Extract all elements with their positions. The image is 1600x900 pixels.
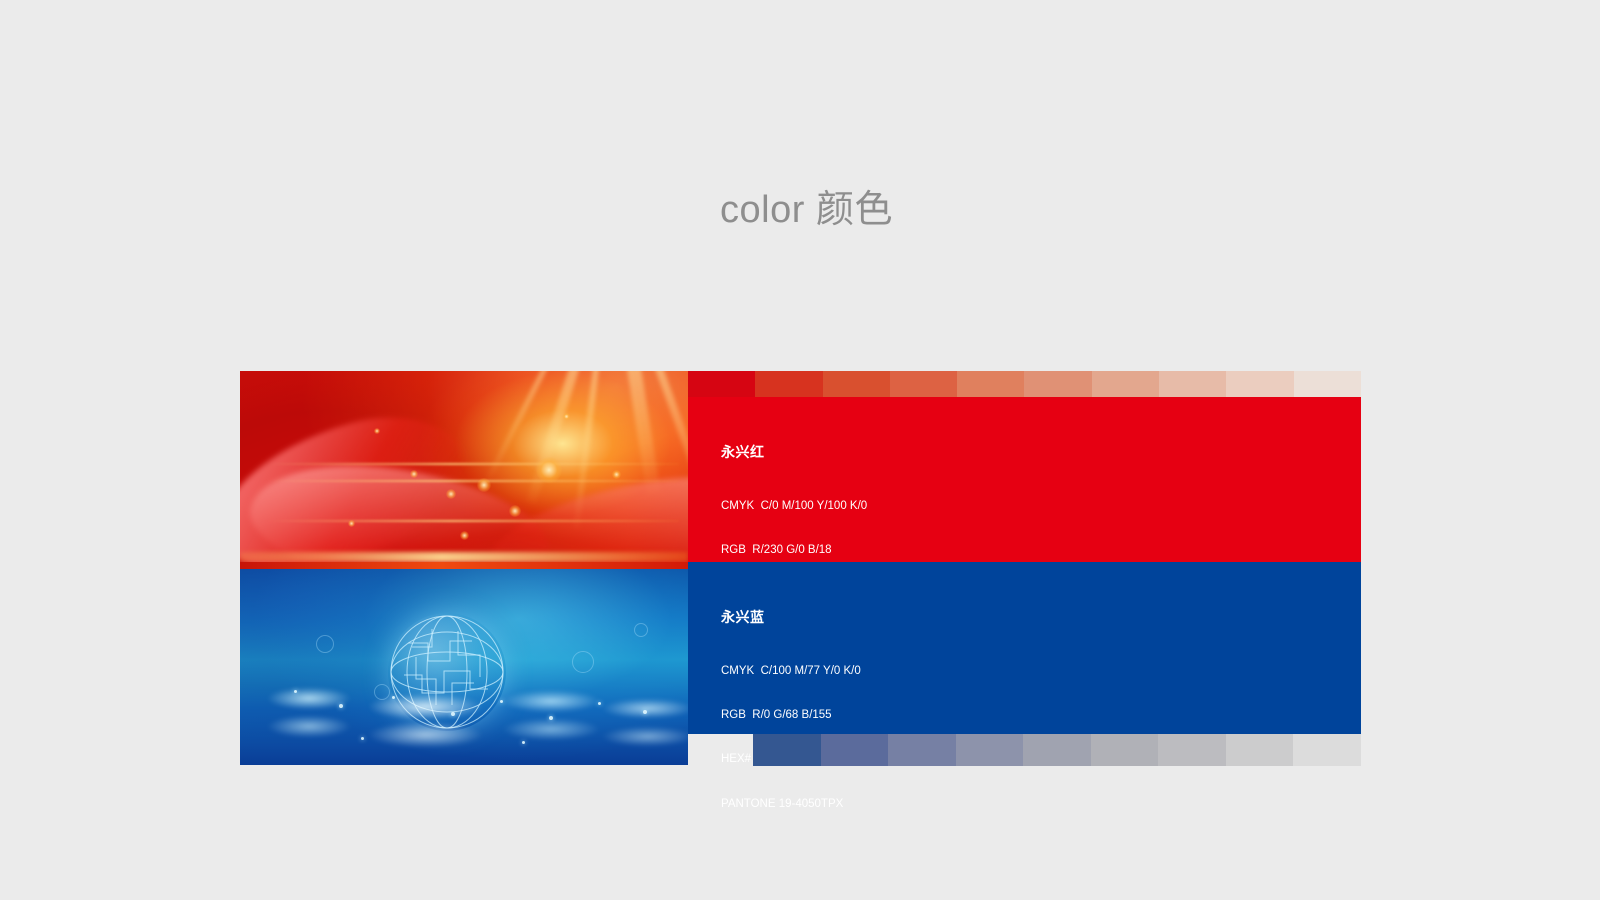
spec-cmyk: CMYK C/100 M/77 Y/0 K/0 — [721, 664, 861, 679]
tint-swatch — [1226, 734, 1294, 766]
tint-swatch — [1092, 371, 1159, 397]
red-tint-strip — [688, 371, 1361, 397]
glow-particle — [522, 741, 525, 744]
blue-artwork-pane — [240, 562, 688, 765]
bokeh-ring — [316, 635, 334, 653]
bokeh-ring — [634, 623, 648, 637]
tint-swatch — [1226, 371, 1293, 397]
blue-globe-image — [240, 562, 688, 765]
tint-swatch — [821, 734, 889, 766]
red-color-block: 永兴红 CMYK C/0 M/100 Y/100 K/0 RGB R/230 G… — [688, 397, 1361, 562]
tint-swatch — [956, 734, 1024, 766]
spark-particle — [612, 470, 621, 479]
spark-particle — [563, 413, 570, 420]
spark-particle — [536, 457, 562, 483]
spec-rgb: RGB R/0 G/68 B/155 — [721, 708, 861, 723]
page-title-latin: color — [720, 189, 805, 231]
glow-particle — [339, 704, 343, 708]
glow-particle — [361, 737, 364, 740]
blue-color-block: 永兴蓝 CMYK C/100 M/77 Y/0 K/0 RGB R/0 G/68… — [688, 562, 1361, 734]
page-title: color 颜色 — [720, 178, 893, 233]
spark-particle — [348, 520, 355, 527]
bottom-glow-band — [240, 552, 688, 562]
color-row-blue: 永兴蓝 CMYK C/100 M/77 Y/0 K/0 RGB R/0 G/68… — [240, 562, 1361, 765]
tint-swatch — [753, 734, 821, 766]
particle-wave — [240, 704, 688, 760]
spark-particle — [477, 478, 491, 492]
tint-swatch — [1159, 371, 1226, 397]
light-streak — [267, 520, 679, 522]
tint-swatch — [888, 734, 956, 766]
tint-swatch — [890, 371, 957, 397]
light-streak — [267, 480, 679, 482]
glow-particle — [500, 700, 503, 703]
color-row-red: 永兴红 CMYK C/0 M/100 Y/100 K/0 RGB R/230 G… — [240, 371, 1361, 562]
red-color-name: 永兴红 — [721, 442, 765, 462]
glow-particle — [294, 690, 297, 693]
spec-rgb: RGB R/230 G/0 B/18 — [721, 543, 867, 558]
page-title-cn: 颜色 — [816, 189, 893, 231]
tint-swatch — [1023, 734, 1091, 766]
red-edge-band — [240, 562, 688, 569]
tint-swatch — [1091, 734, 1159, 766]
tint-swatch — [1158, 734, 1226, 766]
tint-swatch — [688, 371, 755, 397]
blue-tint-strip — [753, 734, 1361, 766]
tint-swatch — [755, 371, 822, 397]
tint-swatch — [1294, 371, 1361, 397]
tint-swatch — [1293, 734, 1361, 766]
spark-particle — [509, 505, 521, 517]
glow-particle — [451, 712, 455, 716]
tint-swatch — [957, 371, 1024, 397]
red-silk-ribbon-image — [240, 371, 688, 562]
spec-pantone: PANTONE 19-4050TPX — [721, 797, 861, 812]
spec-cmyk: CMYK C/0 M/100 Y/100 K/0 — [721, 499, 867, 514]
red-artwork-pane — [240, 371, 688, 562]
light-streak — [267, 463, 679, 465]
color-swatch-board: 永兴红 CMYK C/0 M/100 Y/100 K/0 RGB R/230 G… — [240, 371, 1361, 765]
tint-swatch — [1024, 371, 1091, 397]
spark-particle — [460, 531, 469, 540]
tint-swatch — [823, 371, 890, 397]
light-ray-icon — [625, 371, 661, 495]
bokeh-ring — [572, 651, 594, 673]
blue-color-name: 永兴蓝 — [721, 607, 765, 627]
